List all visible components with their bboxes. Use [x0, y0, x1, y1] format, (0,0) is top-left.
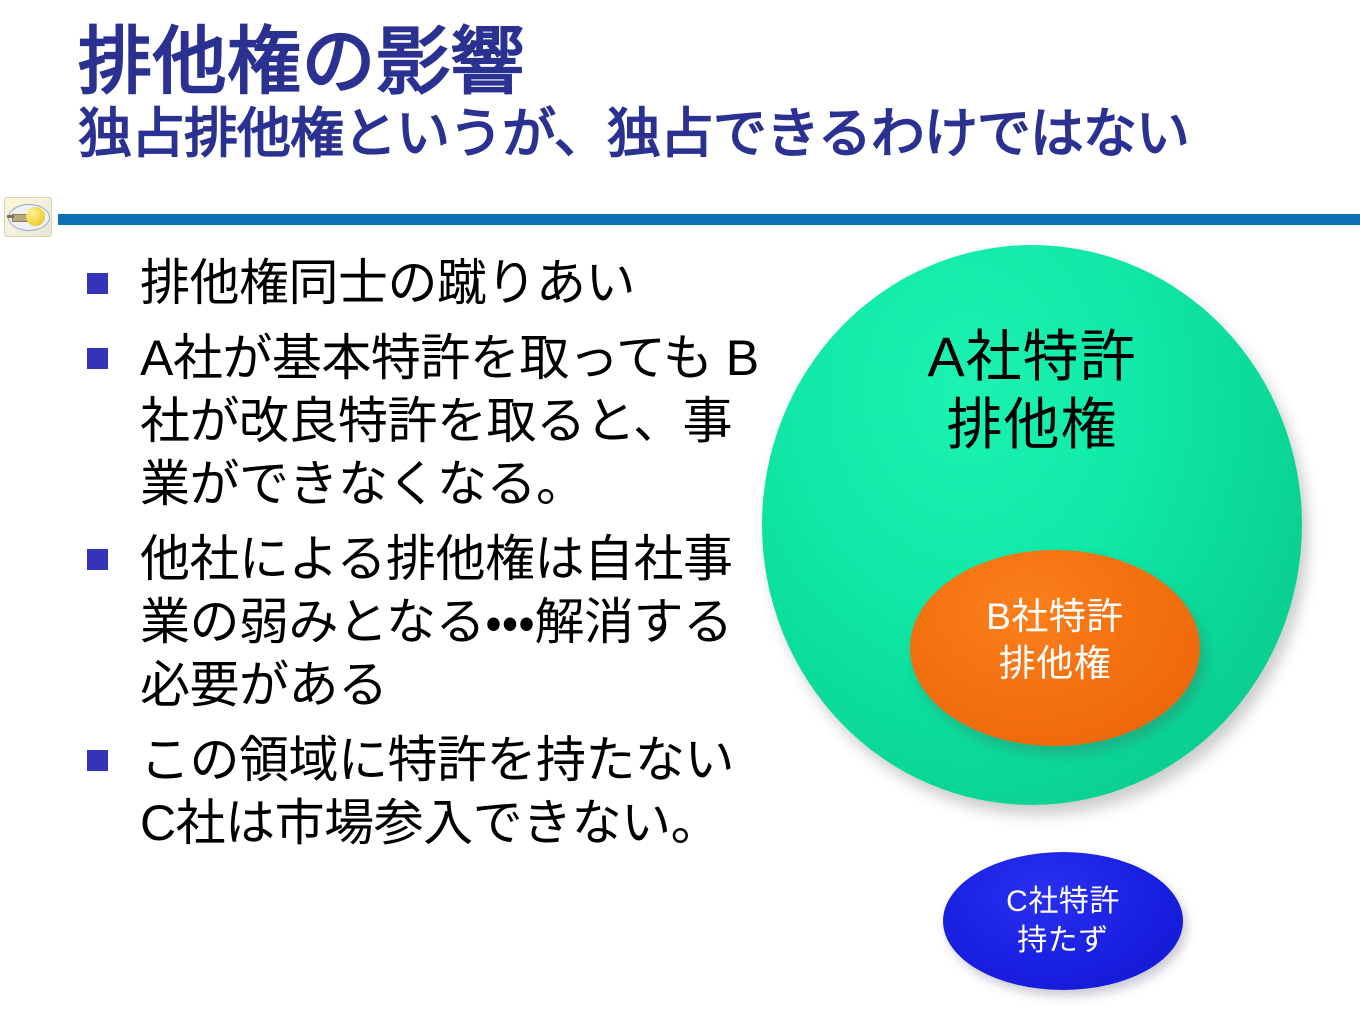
- page-subtitle: 独占排他権というが、独占できるわけではない: [78, 105, 1288, 164]
- lightbulb-clipart-icon: [4, 197, 52, 237]
- shape-company-a-label: A社特許 排他権: [762, 323, 1302, 460]
- list-item-label: 他社による排他権は自社事業の弱みとなる・・・解消する必要がある: [140, 531, 733, 713]
- shape-company-a-patent: A社特許 排他権 B社特許 排他権: [762, 245, 1302, 805]
- slide-canvas: 排他権の影響 独占排他権というが、独占できるわけではない 排他権同士の蹴りあい …: [0, 0, 1360, 1020]
- bullet-list: 排他権同士の蹴りあい A社が基本特許を取っても B社が改良特許を取ると、事業がで…: [78, 252, 768, 867]
- bullet-square-icon: [87, 273, 108, 294]
- title-divider: [58, 214, 1360, 225]
- page-title: 排他権の影響: [78, 24, 1288, 101]
- list-item-label: 排他権同士の蹴りあい: [140, 255, 635, 311]
- icon-bulb-shape: [26, 207, 45, 226]
- shape-company-c-label: C社特許 持たず: [943, 882, 1183, 960]
- bullet-square-icon: [87, 549, 108, 570]
- list-item: 排他権同士の蹴りあい: [78, 252, 768, 315]
- list-item-label: A社が基本特許を取っても B社が改良特許を取ると、事業ができなくなる。: [140, 330, 759, 512]
- bullet-square-icon: [87, 348, 108, 369]
- title-block: 排他権の影響 独占排他権というが、独占できるわけではない: [78, 24, 1288, 164]
- list-item-label: この領域に特許を持たないC社は市場参入できない。: [140, 732, 734, 851]
- shape-company-b-patent: B社特許 排他権: [910, 550, 1200, 746]
- shape-company-b-label: B社特許 排他権: [910, 594, 1200, 687]
- icon-lead-shape: [7, 215, 14, 218]
- list-item: A社が基本特許を取っても B社が改良特許を取ると、事業ができなくなる。: [78, 327, 768, 516]
- shape-company-c-patent: C社特許 持たず: [943, 852, 1183, 990]
- venn-diagram: A社特許 排他権 B社特許 排他権 C社特許 持たず: [740, 232, 1360, 1020]
- bullet-square-icon: [87, 750, 108, 771]
- list-item: この領域に特許を持たないC社は市場参入できない。: [78, 729, 768, 855]
- list-item: 他社による排他権は自社事業の弱みとなる・・・解消する必要がある: [78, 528, 768, 717]
